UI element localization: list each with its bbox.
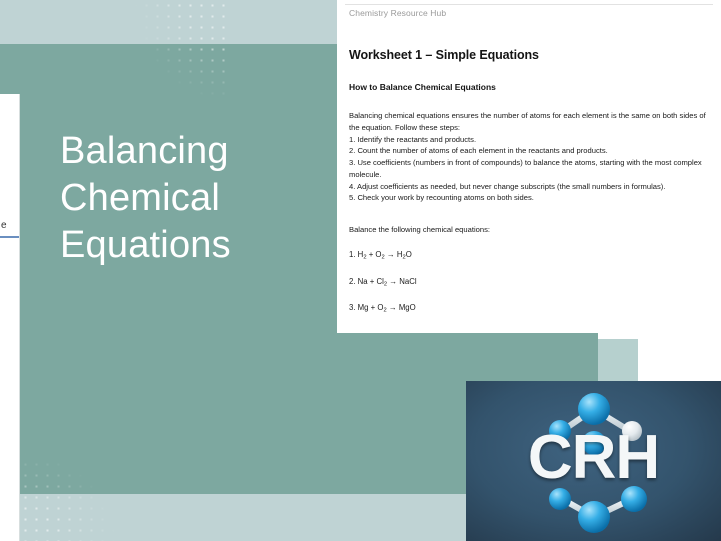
document-exercise-prompt: Balance the following chemical equations… [349, 225, 707, 234]
list-item: 4. Adjust coefficients as needed, but ne… [349, 181, 707, 193]
list-item: 2. Count the number of atoms of each ele… [349, 145, 707, 157]
left-edge-panel-label: e [1, 220, 7, 231]
list-item: 2. Na + Cl2 → NaCl [349, 277, 707, 288]
left-edge-panel-underline [0, 236, 19, 238]
list-item: 3. Mg + O2 → MgO [349, 303, 707, 314]
crh-logo-card: CRH [466, 381, 721, 541]
list-item: 5. Check your work by recounting atoms o… [349, 192, 707, 204]
page-title: Balancing Chemical Equations [60, 128, 330, 269]
left-edge-panel[interactable]: e [0, 94, 20, 541]
breadcrumb: Chemistry Resource Hub [349, 8, 446, 18]
molecule-node [578, 501, 610, 533]
document-top-divider [345, 4, 713, 5]
list-item: 1. H2 + O2 → H2O [349, 250, 707, 261]
document-body: Worksheet 1 – Simple Equations How to Ba… [349, 48, 707, 314]
list-item: 3. Use coefficients (numbers in front of… [349, 157, 707, 181]
document-step-list: 1. Identify the reactants and products. … [349, 134, 707, 205]
document-heading: Worksheet 1 – Simple Equations [349, 48, 707, 62]
worksheet-document-panel[interactable]: Chemistry Resource Hub Worksheet 1 – Sim… [337, 0, 721, 333]
molecule-node [578, 393, 610, 425]
crh-wordmark: CRH [466, 427, 721, 489]
list-item: 1. Identify the reactants and products. [349, 134, 707, 146]
document-equation-list: 1. H2 + O2 → H2O 2. Na + Cl2 → NaCl 3. M… [349, 250, 707, 314]
document-intro-paragraph: Balancing chemical equations ensures the… [349, 110, 707, 134]
document-subheading: How to Balance Chemical Equations [349, 82, 707, 92]
